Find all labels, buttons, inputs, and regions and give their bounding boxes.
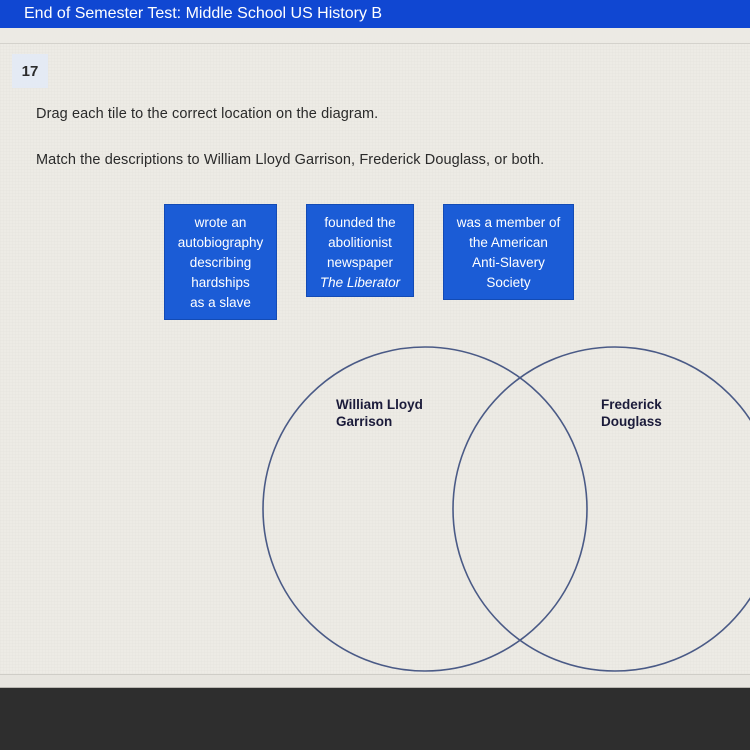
venn-label-douglass: Frederick Douglass [601,396,662,430]
tile-line: was a member of [450,213,567,233]
draggable-tile-liberator[interactable]: founded the abolitionist newspaper The L… [306,204,414,297]
tile-line: describing [171,253,270,273]
tile-line: Anti-Slavery [450,253,567,273]
tile-line: autobiography [171,233,270,253]
tile-line: wrote an [171,213,270,233]
app-title-bar: End of Semester Test: Middle School US H… [0,0,750,28]
venn-label-line: William Lloyd [336,396,423,413]
tile-line: hardships [171,273,270,293]
draggable-tile-autobiography[interactable]: wrote an autobiography describing hardsh… [164,204,277,320]
instruction-drag-tiles: Drag each tile to the correct location o… [36,106,378,122]
question-page: 17 Drag each tile to the correct locatio… [0,44,750,674]
venn-label-line: Douglass [601,413,662,430]
tile-line: as a slave [171,293,270,313]
tile-line: Society [450,273,567,293]
instruction-match-descriptions: Match the descriptions to William Lloyd … [36,152,544,168]
question-number-badge: 17 [12,54,48,88]
tile-line-italic: The Liberator [313,273,407,293]
venn-diagram[interactable] [250,334,750,674]
venn-label-garrison: William Lloyd Garrison [336,396,423,430]
draggable-tile-anti-slavery-society[interactable]: was a member of the American Anti-Slaver… [443,204,574,300]
page-bottom-divider [0,674,750,688]
screen: End of Semester Test: Middle School US H… [0,0,750,750]
taskbar [0,688,750,750]
tile-line: founded the [313,213,407,233]
venn-label-line: Frederick [601,396,662,413]
venn-label-line: Garrison [336,413,423,430]
toolbar-strip [0,28,750,44]
tile-line: abolitionist [313,233,407,253]
app-title: End of Semester Test: Middle School US H… [24,5,382,22]
tile-line: the American [450,233,567,253]
tile-line: newspaper [313,253,407,273]
venn-circle-left [263,347,587,671]
